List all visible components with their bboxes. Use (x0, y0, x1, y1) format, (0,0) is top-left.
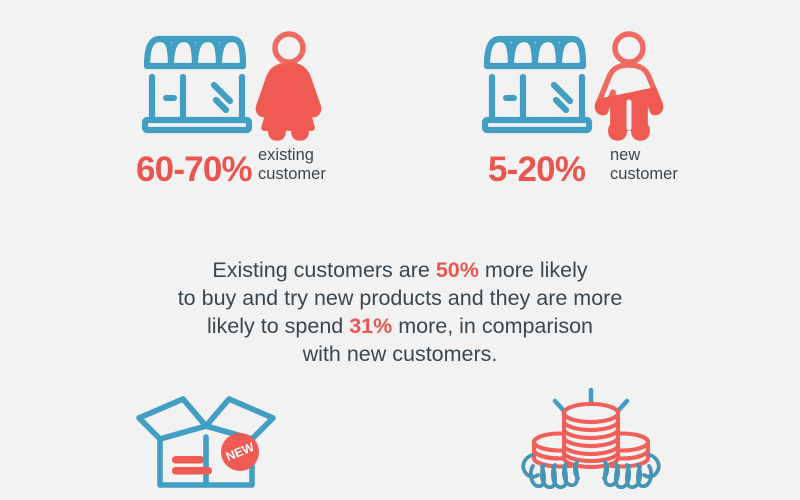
new-badge: NEW (221, 433, 259, 471)
coins-in-hands-icon (516, 388, 666, 492)
stat-group-new: 5-20% new customer (470, 30, 730, 195)
statement-line3-pre: likely to spend (207, 314, 349, 338)
storefront-icon (478, 32, 596, 137)
coin-stack-center (564, 404, 618, 467)
label-row-existing: 60-70% existing customer (130, 142, 390, 196)
male-person-icon (592, 30, 666, 140)
statement-highlight-50: 50% (436, 258, 479, 282)
label-row-new: 5-20% new customer (470, 142, 730, 196)
statement-line-2: to buy and try new products and they are… (178, 286, 623, 310)
statement-text: Existing customers are 50% more likely t… (140, 256, 660, 368)
icon-row-existing (130, 30, 390, 140)
label-new-line2: customer (610, 165, 678, 183)
percent-new: 5-20% (488, 152, 585, 187)
label-new-line1: new (610, 146, 640, 164)
storefront-icon (138, 32, 256, 137)
label-existing-line2: customer (258, 165, 326, 183)
icon-row-new (470, 30, 730, 140)
statement-line-4: with new customers. (303, 342, 498, 366)
infographic-canvas: 60-70% existing customer (0, 0, 800, 500)
label-existing: existing customer (258, 146, 326, 184)
label-existing-line1: existing (258, 146, 314, 164)
percent-existing: 60-70% (136, 152, 252, 187)
statement-line-3: likely to spend 31% more, in comparison (207, 314, 593, 338)
statement-line3-post: more, in comparison (392, 314, 593, 338)
stat-group-existing: 60-70% existing customer (130, 30, 390, 195)
statement-line1-pre: Existing customers are (212, 258, 435, 282)
statement-line-1: Existing customers are 50% more likely (212, 258, 587, 282)
female-person-icon (252, 30, 326, 140)
open-box-icon: NEW (136, 392, 286, 492)
statement-highlight-31: 31% (349, 314, 392, 338)
statement-line1-post: more likely (479, 258, 588, 282)
label-new: new customer (610, 146, 678, 184)
